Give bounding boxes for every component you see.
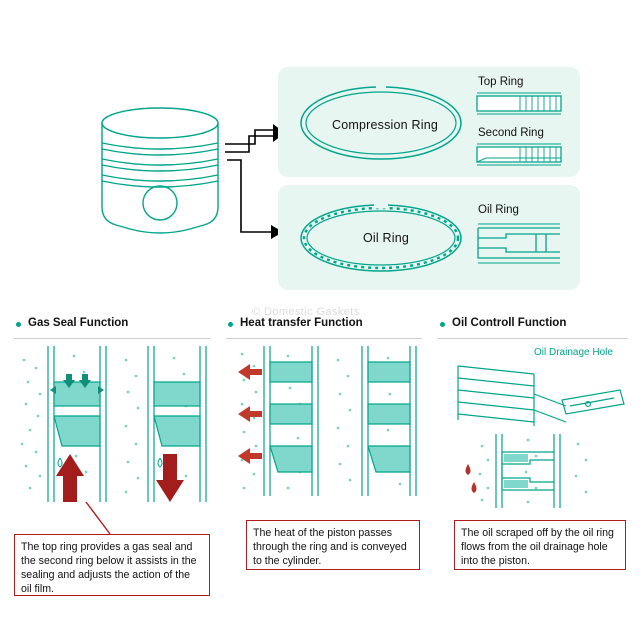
- second-ring-cross-section: [476, 143, 562, 167]
- second-ring-label: Second Ring: [478, 127, 544, 139]
- oil-drainage-hole-label: Oil Drainage Hole: [534, 347, 613, 358]
- oil-ring-section-label: Oil Ring: [478, 204, 519, 216]
- gas-seal-title: Gas Seal Function: [28, 317, 128, 329]
- heat-transfer-callout: The heat of the piston passes through th…: [246, 520, 420, 570]
- heat-transfer-title: Heat transfer Function: [240, 317, 363, 329]
- top-ring-label: Top Ring: [478, 76, 523, 88]
- connector-arrows: [225, 120, 285, 250]
- oil-ring-label: Oil Ring: [326, 231, 446, 245]
- gas-seal-illustration: [14, 346, 210, 508]
- diagram-canvas: Compression Ring Top Ring Second Ring: [0, 0, 640, 640]
- divider-1: [14, 338, 210, 339]
- gas-seal-bullet-icon: [16, 322, 21, 327]
- divider-2: [226, 338, 422, 339]
- heat-transfer-illustration: [228, 346, 418, 498]
- oil-ring-cross-section: [476, 222, 562, 266]
- divider-3: [438, 338, 628, 339]
- heat-transfer-bullet-icon: [228, 322, 233, 327]
- oil-control-title: Oil Controll Function: [452, 317, 566, 329]
- compression-ring-label: Compression Ring: [320, 118, 450, 132]
- piston-illustration: [70, 85, 250, 265]
- oil-control-illustration: [438, 360, 628, 508]
- oil-control-bullet-icon: [440, 322, 445, 327]
- oil-control-callout: The oil scraped off by the oil ring flow…: [454, 520, 626, 570]
- gas-seal-callout-pointer: [84, 502, 118, 538]
- top-ring-cross-section: [476, 92, 562, 116]
- gas-seal-callout: The top ring provides a gas seal and the…: [14, 534, 210, 596]
